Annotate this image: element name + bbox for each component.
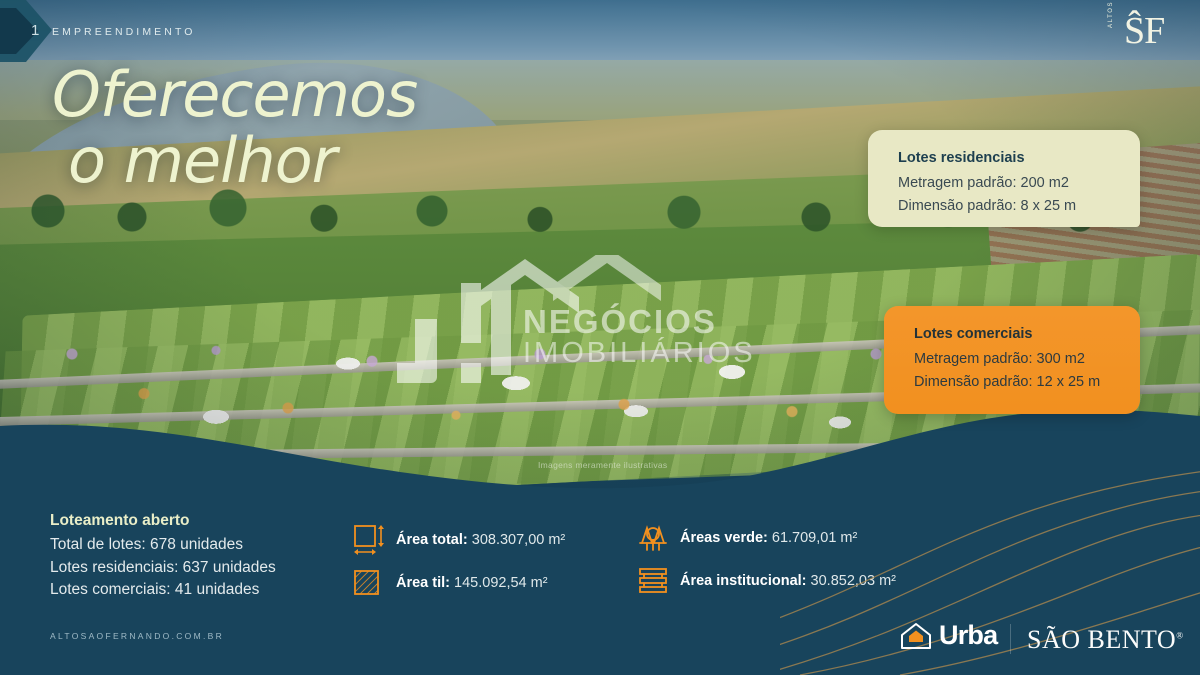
card-row-label: Dimensão padrão: xyxy=(898,198,1017,214)
house-icon xyxy=(900,622,932,650)
section-label: EMPREENDIMENTO xyxy=(52,26,196,38)
page-title: Oferecemos o melhor xyxy=(52,62,417,193)
stats-loteamento: Loteamento aberto Total de lotes: 678 un… xyxy=(50,512,276,602)
brand-logo-sf: ALTOS ŜF xyxy=(1112,12,1178,58)
stats-row: Total de lotes: 678 unidades xyxy=(50,534,276,557)
trees-icon xyxy=(636,521,670,555)
partner-logo-sao-bento: SÃO BENTO® xyxy=(1027,625,1184,655)
stats-row: Lotes residenciais: 637 unidades xyxy=(50,557,276,580)
slide-canvas: NEGÓCIOS IMOBILIÁRIOS Imagens meramente … xyxy=(0,0,1200,675)
card-row-value: 200 m2 xyxy=(1021,175,1069,191)
brand-logo-altos-text: ALTOS xyxy=(1108,1,1114,28)
info-card-lotes-residenciais: Lotes residenciais Metragem padrão: 200 … xyxy=(868,130,1140,227)
registered-mark: ® xyxy=(1176,630,1183,640)
area-stat-value: 308.307,00 m² xyxy=(472,532,566,548)
card-row: Metragem padrão: 300 m2 xyxy=(914,351,1114,367)
stats-row: Lotes comerciais: 41 unidades xyxy=(50,579,276,602)
card-row-value: 12 x 25 m xyxy=(1037,374,1101,390)
brand-logo-mark: ŜF xyxy=(1124,12,1164,50)
card-row: Metragem padrão: 200 m2 xyxy=(898,175,1114,191)
area-stat-text: Área til: 145.092,54 m² xyxy=(396,575,548,591)
footer-divider xyxy=(1010,624,1011,654)
card-row-value: 300 m2 xyxy=(1037,351,1085,367)
card-row: Dimensão padrão: 8 x 25 m xyxy=(898,198,1114,214)
card-row-value: 8 x 25 m xyxy=(1021,198,1077,214)
page-title-line1: Oferecemos xyxy=(52,58,417,131)
hatched-area-icon xyxy=(352,566,386,600)
card-row-label: Metragem padrão: xyxy=(914,351,1032,367)
partner-logo-urba: Urba xyxy=(900,620,997,651)
card-row-label: Metragem padrão: xyxy=(898,175,1016,191)
area-stat-label: Área total: xyxy=(396,532,468,548)
info-card-lotes-comerciais: Lotes comerciais Metragem padrão: 300 m2… xyxy=(884,306,1140,414)
section-number: 1 xyxy=(31,22,39,39)
partner-name-urba: Urba xyxy=(939,620,997,651)
stats-title: Loteamento aberto xyxy=(50,512,276,530)
card-title: Lotes residenciais xyxy=(898,150,1114,166)
card-row: Dimensão padrão: 12 x 25 m xyxy=(914,374,1114,390)
area-stat-total: Área total: 308.307,00 m² xyxy=(352,523,565,557)
institutional-icon xyxy=(636,564,670,598)
area-stat-label: Área til: xyxy=(396,575,450,591)
area-stat-text: Área total: 308.307,00 m² xyxy=(396,532,565,548)
area-stat-util: Área til: 145.092,54 m² xyxy=(352,566,548,600)
area-stat-value: 145.092,54 m² xyxy=(454,575,548,591)
area-stat-label: Áreas verde: xyxy=(680,530,768,546)
area-total-icon xyxy=(352,523,386,557)
partner-name-sao-bento: SÃO BENTO xyxy=(1027,625,1176,654)
card-title: Lotes comerciais xyxy=(914,326,1114,342)
page-title-line2: o melhor xyxy=(52,128,417,194)
website-url[interactable]: ALTOSAOFERNANDO.COM.BR xyxy=(50,631,224,641)
card-row-label: Dimensão padrão: xyxy=(914,374,1033,390)
